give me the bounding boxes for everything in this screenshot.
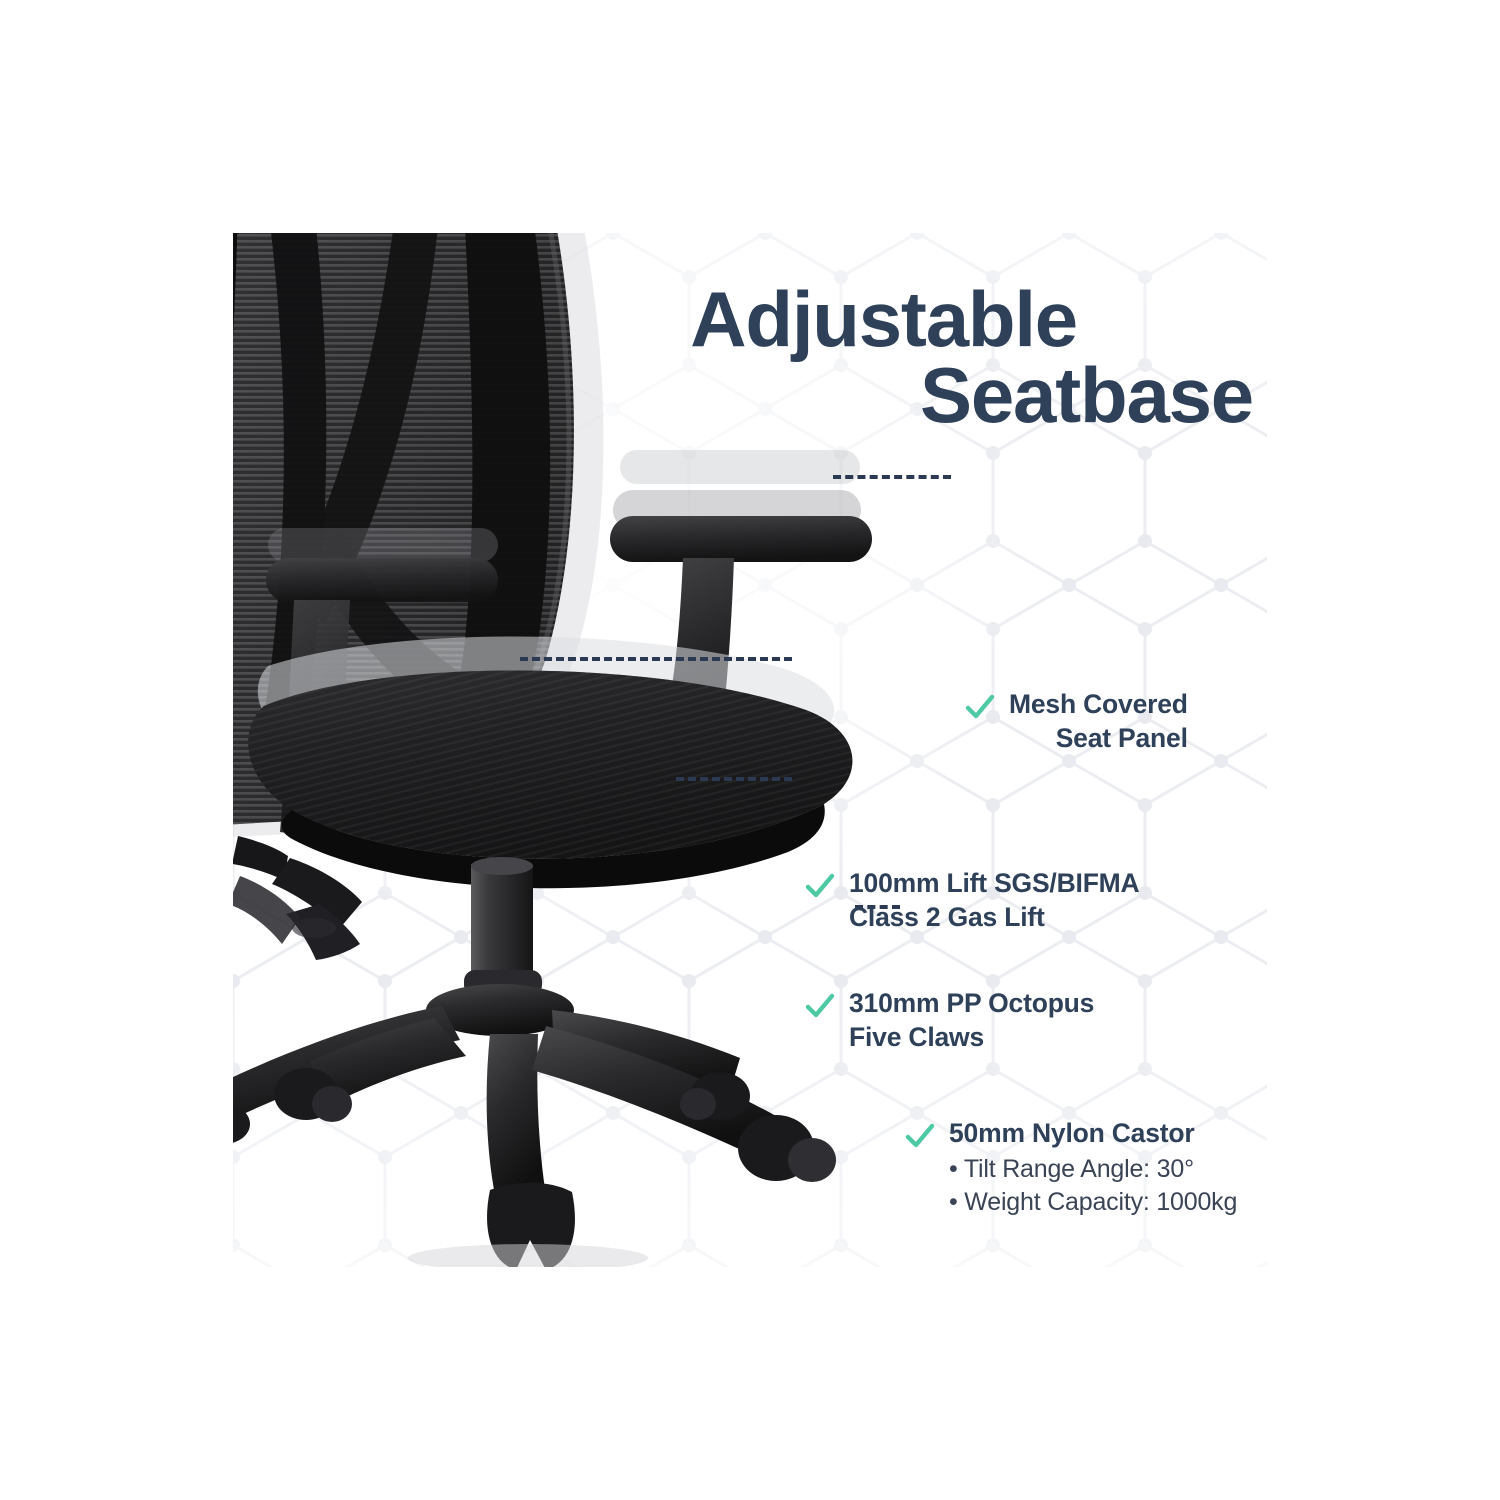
callout-mesh-covered-seat-panel: Mesh Covered Seat Panel	[965, 688, 1188, 756]
title-line-2: Seatbase	[533, 357, 1253, 433]
check-icon	[805, 991, 835, 1021]
page-title: Adjustable Seatbase	[533, 281, 1253, 434]
infographic-page: Adjustable Seatbase Mesh Covered Seat Pa…	[0, 0, 1500, 1500]
callout-title: 50mm Nylon Castor	[949, 1117, 1237, 1151]
callout-title: Mesh Covered Seat Panel	[1009, 688, 1188, 756]
leader-line-mesh-covered-seat-panel	[833, 475, 951, 479]
content-canvas: Adjustable Seatbase Mesh Covered Seat Pa…	[233, 233, 1267, 1267]
leader-line-gas-lift	[520, 657, 792, 661]
leader-line-octopus-five-claws	[676, 777, 792, 781]
callout-detail-list: • Tilt Range Angle: 30° • Weight Capacit…	[949, 1153, 1237, 1220]
callout-gas-lift: 100mm Lift SGS/BIFMA Class 2 Gas Lift	[805, 867, 1140, 935]
callout-title: 310mm PP Octopus Five Claws	[849, 987, 1094, 1055]
title-line-1: Adjustable	[533, 281, 1253, 357]
callout-nylon-castor: 50mm Nylon Castor • Tilt Range Angle: 30…	[905, 1117, 1237, 1219]
check-icon	[805, 871, 835, 901]
check-icon	[905, 1121, 935, 1151]
callout-title: 100mm Lift SGS/BIFMA Class 2 Gas Lift	[849, 867, 1140, 935]
callout-detail-item: • Weight Capacity: 1000kg	[949, 1186, 1237, 1219]
callout-octopus-five-claws: 310mm PP Octopus Five Claws	[805, 987, 1094, 1055]
check-icon	[965, 692, 995, 722]
callout-detail-item: • Tilt Range Angle: 30°	[949, 1153, 1237, 1186]
